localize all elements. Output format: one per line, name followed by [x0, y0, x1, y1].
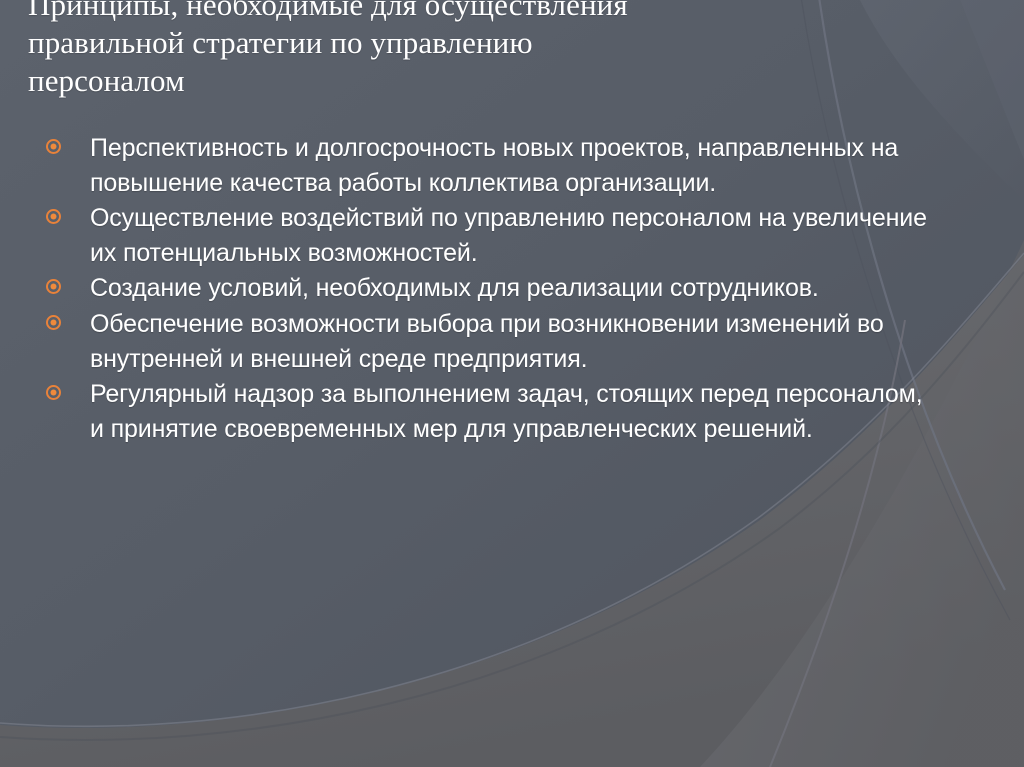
list-item: Регулярный надзор за выполнением задач, …: [40, 377, 930, 446]
slide-title-line-2: правильной стратегии по управлению: [28, 24, 728, 62]
target-dot-icon: [46, 279, 61, 294]
target-dot-icon: [46, 315, 61, 330]
target-dot-icon: [46, 385, 61, 400]
slide-title-line-1: Принципы, необходимые для осуществления: [28, 0, 728, 24]
presentation-slide: Принципы, необходимые для осуществления …: [0, 0, 1024, 767]
list-item-text: Создание условий, необходимых для реализ…: [90, 271, 930, 306]
slide-title-line-3: персоналом: [28, 62, 728, 100]
list-item-text: Обеспечение возможности выбора при возни…: [90, 307, 930, 376]
list-item-text: Регулярный надзор за выполнением задач, …: [90, 377, 930, 446]
list-item: Перспективность и долгосрочность новых п…: [40, 131, 930, 200]
list-item-text: Осуществление воздействий по управлению …: [90, 201, 930, 270]
target-dot-icon: [46, 209, 61, 224]
slide-title: Принципы, необходимые для осуществления …: [28, 0, 728, 100]
slide-bullet-list: Перспективность и долгосрочность новых п…: [40, 131, 930, 447]
list-item: Осуществление воздействий по управлению …: [40, 201, 930, 270]
list-item: Создание условий, необходимых для реализ…: [40, 271, 930, 306]
list-item: Обеспечение возможности выбора при возни…: [40, 307, 930, 376]
target-dot-icon: [46, 139, 61, 154]
list-item-text: Перспективность и долгосрочность новых п…: [90, 131, 930, 200]
slide-content: Принципы, необходимые для осуществления …: [0, 0, 1024, 767]
